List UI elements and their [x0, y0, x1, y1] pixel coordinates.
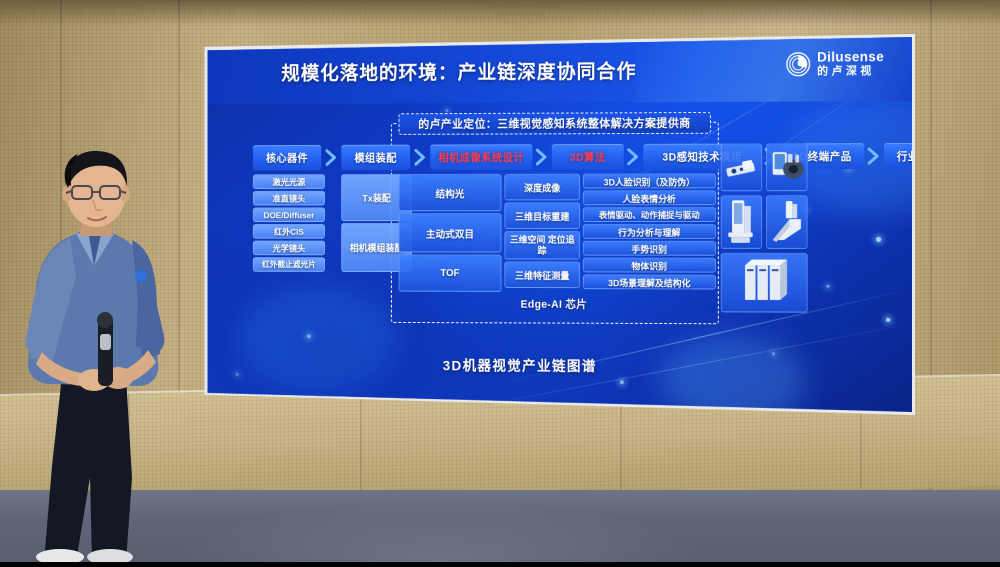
list-item[interactable]: 表情驱动、动作捕捉与驱动 — [583, 207, 716, 222]
chevron-right-icon — [627, 148, 641, 166]
column-camera-imaging: 结构光 主动式双目 TOF — [399, 174, 502, 294]
column-3d-perception: 3D人脸识别（及防伪） 人脸表情分析 表情驱动、动作捕捉与驱动 行为分析与理解 … — [583, 173, 716, 291]
list-item[interactable]: 行为分析与理解 — [583, 224, 716, 239]
slide-surface: 规模化落地的环境：产业链深度协同合作 Dilusense 的卢深视 的卢产业定位… — [208, 37, 912, 412]
edge-ai-chip-label: Edge-AI 芯片 — [394, 294, 716, 315]
list-item[interactable]: 深度成像 — [504, 174, 580, 201]
stage-header-core-components[interactable]: 核心器件 — [253, 145, 321, 171]
column-3d-terminal-products — [721, 143, 808, 314]
chevron-right-icon — [414, 149, 427, 167]
server-rack-product-photo[interactable] — [721, 253, 808, 313]
stage-header-camera-imaging[interactable]: 相机成像系统设计 — [430, 144, 532, 170]
diagram-caption: 3D机器视觉产业链图谱 — [443, 355, 597, 376]
brand-name-en: Dilusense — [817, 50, 884, 64]
list-item[interactable]: 三维目标重建 — [504, 202, 580, 229]
brand-name-cn: 的卢深视 — [817, 66, 884, 77]
chevron-right-icon — [535, 148, 549, 166]
value-chain-diagram: 的卢产业定位：三维视觉感知系统整体解决方案提供商 核心器件 模组装配 相机成像系… — [251, 123, 872, 348]
stage-header-industry-solution[interactable]: 行业集成方案 — [884, 143, 912, 169]
list-item[interactable]: 三维特征测量 — [504, 261, 580, 288]
presenter-person — [14, 148, 194, 562]
list-item[interactable]: 3D人脸识别（及防伪） — [583, 173, 716, 188]
led-screen: 规模化落地的环境：产业链深度协同合作 Dilusense 的卢深视 的卢产业定位… — [208, 37, 912, 412]
chevron-right-icon — [867, 147, 881, 165]
brand-logo: Dilusense 的卢深视 — [785, 50, 884, 77]
face-terminal-kiosk-product-photo[interactable] — [721, 195, 762, 249]
list-item[interactable]: 红外CIS — [253, 224, 325, 239]
handheld-scanner-product-photo[interactable] — [766, 143, 808, 191]
list-item[interactable]: 物体识别 — [583, 258, 716, 273]
list-item[interactable]: 准直镜头 — [253, 191, 325, 206]
stage-header-module-assembly[interactable]: 模组装配 — [341, 145, 410, 171]
list-item[interactable]: 手势识别 — [583, 241, 716, 256]
list-item[interactable]: 结构光 — [399, 174, 502, 211]
column-core-components: 激光光源 准直镜头 DOE/Diffuser 红外CIS 光学镜头 红外截止滤光… — [253, 174, 325, 274]
dilusense-swirl-logo-icon — [785, 51, 810, 76]
list-item[interactable]: 光学镜头 — [253, 241, 325, 256]
gate-reader-product-photo[interactable] — [766, 195, 808, 249]
list-item[interactable]: 人脸表情分析 — [583, 190, 716, 205]
list-item[interactable]: TOF — [399, 254, 502, 292]
stage-header-3d-algorithm[interactable]: 3D算法 — [552, 144, 624, 170]
list-item[interactable]: 激光光源 — [253, 174, 325, 189]
list-item[interactable]: 主动式双目 — [399, 213, 502, 252]
chevron-right-icon — [325, 149, 338, 167]
3d-camera-bar-product-photo[interactable] — [721, 143, 762, 191]
ceiling-shadow — [0, 0, 1000, 26]
list-item[interactable]: 三维空间 定位追踪 — [504, 231, 580, 260]
list-item[interactable]: 3D场景理解及结构化 — [583, 274, 716, 289]
positioning-banner: 的卢产业定位：三维视觉感知系统整体解决方案提供商 — [399, 112, 711, 135]
page-title: 规模化落地的环境：产业链深度协同合作 — [281, 55, 636, 86]
column-3d-algorithm: 深度成像 三维目标重建 三维空间 定位追踪 三维特征测量 — [504, 174, 580, 290]
list-item[interactable]: 红外截止滤光片 — [253, 257, 325, 272]
list-item[interactable]: DOE/Diffuser — [253, 207, 325, 222]
floor-light-reflection — [160, 502, 720, 562]
